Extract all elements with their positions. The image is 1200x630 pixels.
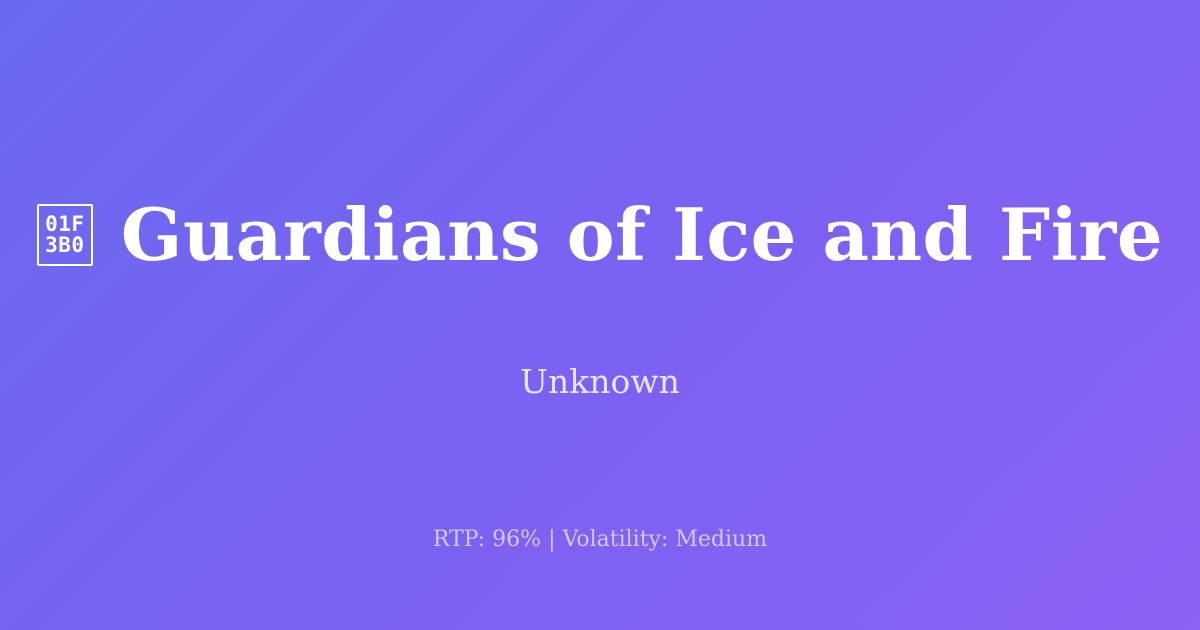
title-line: 01F 3B0 Guardians of Ice and Fire — [40, 149, 1160, 321]
page-title: Guardians of Ice and Fire — [121, 197, 1163, 273]
tofu-codepoint-top: 01F — [45, 214, 84, 235]
tofu-codepoint-bottom: 3B0 — [45, 235, 84, 256]
title-block: 01F 3B0 Guardians of Ice and Fire — [40, 149, 1160, 321]
game-stats-label: RTP: 96% | Volatility: Medium — [0, 527, 1200, 552]
slot-machine-icon: 01F 3B0 — [37, 204, 93, 266]
game-banner-card: 01F 3B0 Guardians of Ice and Fire Unknow… — [0, 0, 1200, 630]
provider-label: Unknown — [0, 362, 1200, 401]
